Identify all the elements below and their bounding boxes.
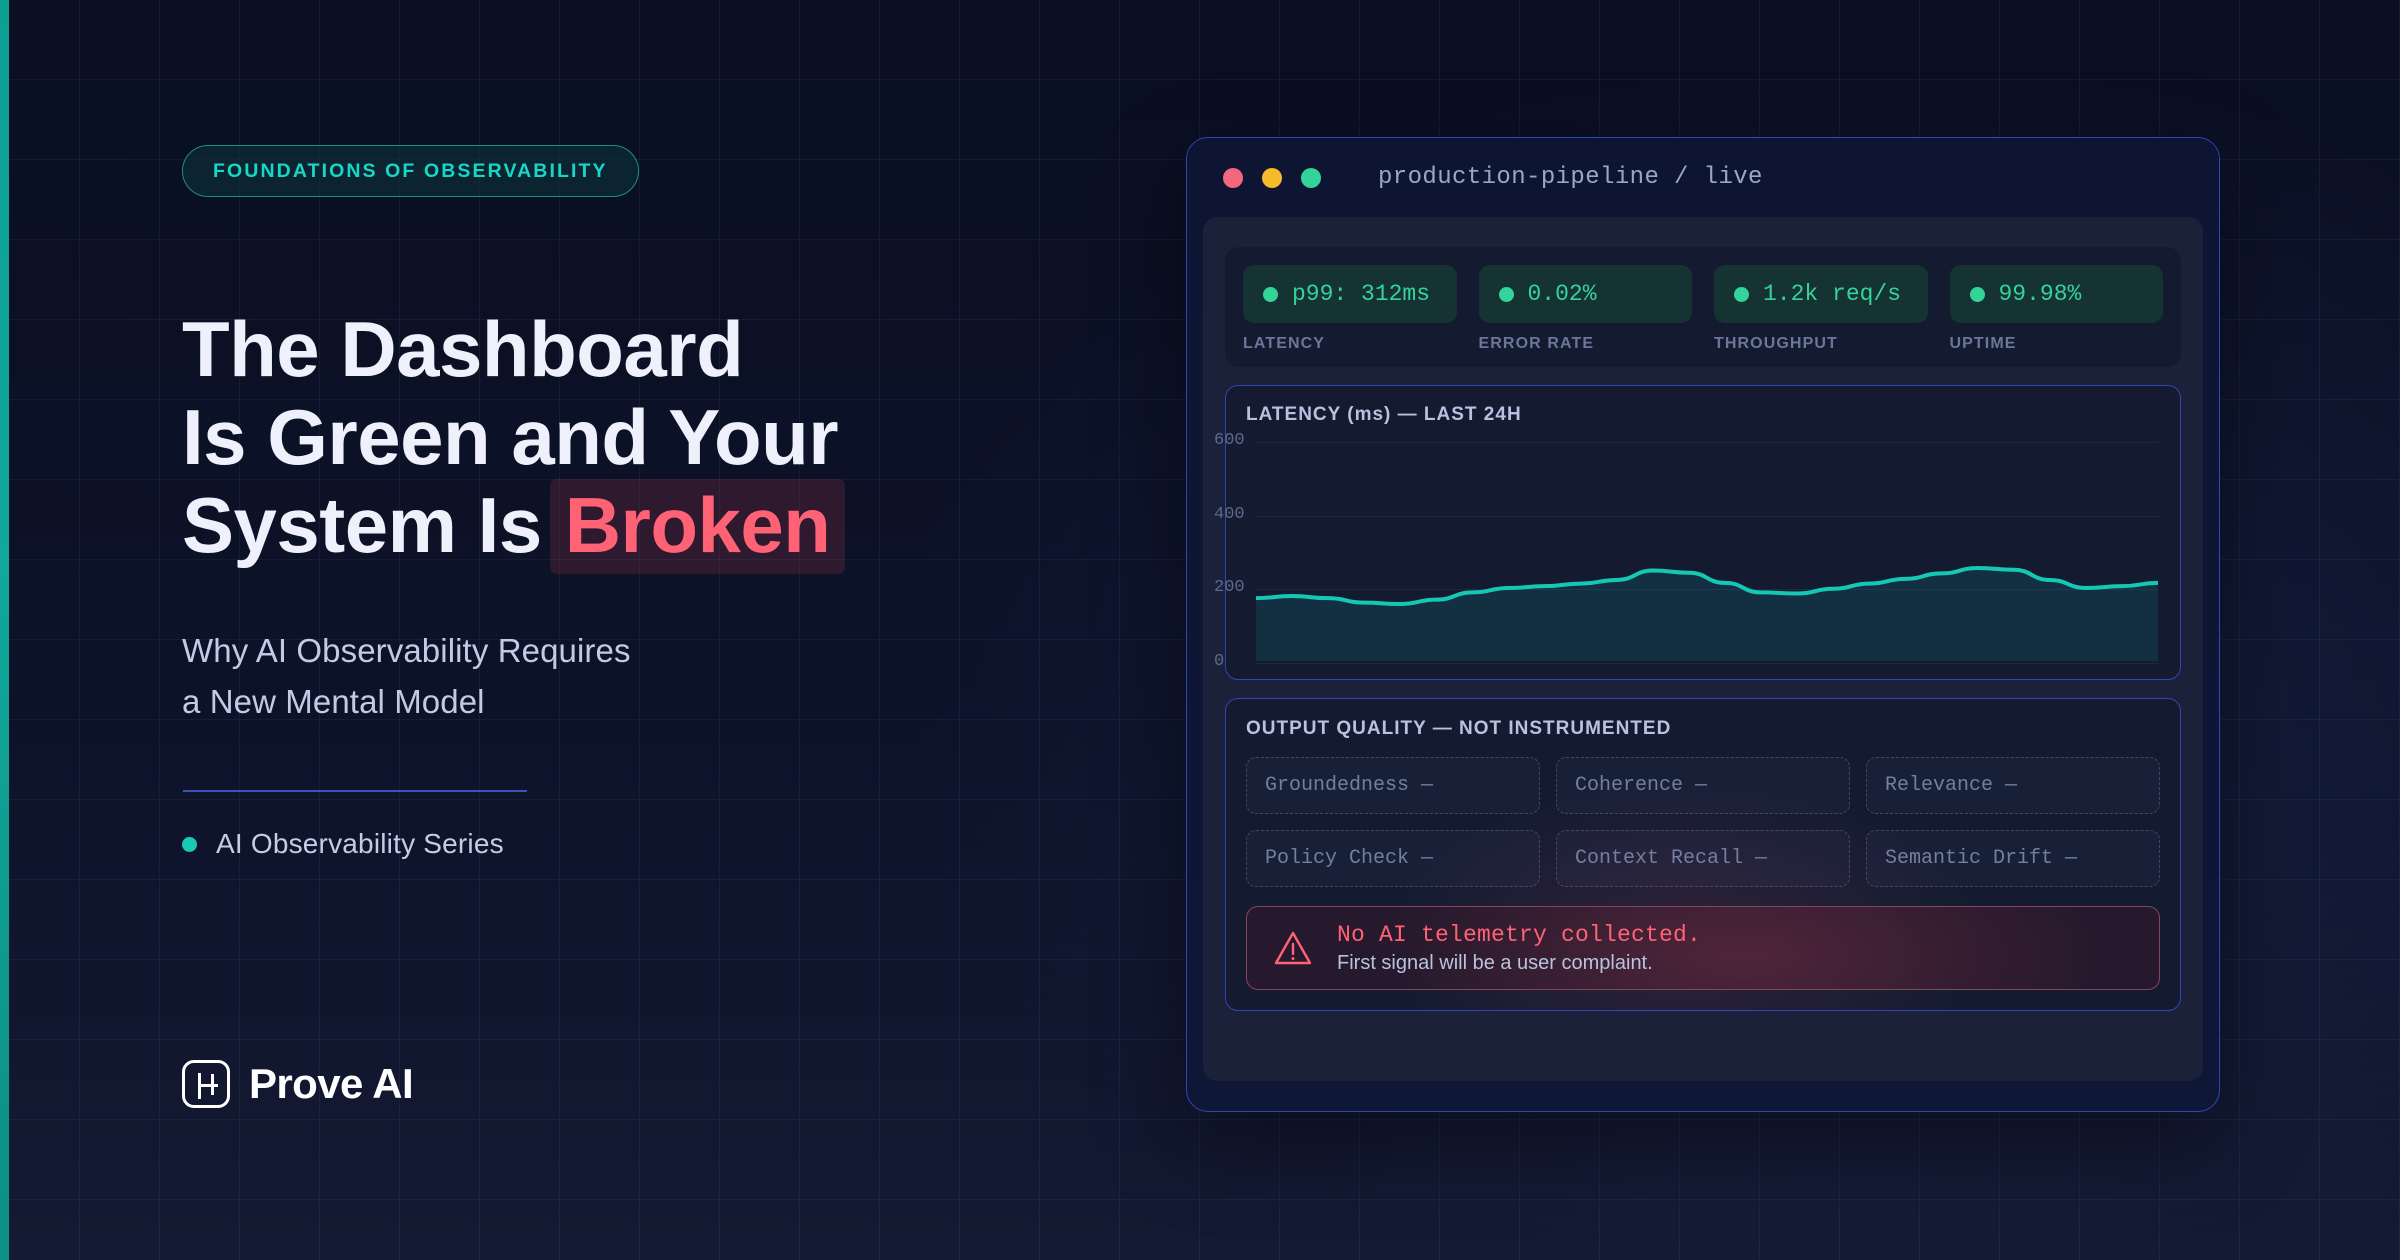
chart-y-tick-label: 400 — [1214, 505, 1245, 524]
metric-label: THROUGHPUT — [1714, 335, 1928, 353]
chart-y-tick-label: 0 — [1214, 652, 1224, 671]
latency-chart-card: LATENCY (ms) — LAST 24H 0200400600 — [1225, 385, 2181, 680]
metric-label: LATENCY — [1243, 335, 1457, 353]
quality-placeholder-card: Context Recall — — [1556, 830, 1850, 887]
metric-chip: p99: 312ms — [1243, 265, 1457, 323]
brand-logo-text: Prove AI — [249, 1060, 413, 1108]
headline-line-1: The Dashboard — [182, 305, 1002, 393]
chart-y-tick-label: 200 — [1214, 578, 1245, 597]
quality-placeholder-label: Coherence — — [1575, 774, 1707, 797]
metric-chip: 0.02% — [1479, 265, 1693, 323]
metric-latency: p99: 312msLATENCY — [1243, 265, 1457, 353]
traffic-lights — [1223, 168, 1321, 188]
metric-throughput: 1.2k req/sTHROUGHPUT — [1714, 265, 1928, 353]
no-telemetry-alert: No AI telemetry collected. First signal … — [1246, 906, 2160, 990]
quality-placeholder-label: Relevance — — [1885, 774, 2017, 797]
alert-text-block: No AI telemetry collected. First signal … — [1337, 922, 1701, 975]
eyebrow-badge: FOUNDATIONS OF OBSERVABILITY — [182, 145, 639, 197]
section-divider — [183, 790, 527, 792]
page-subtitle: Why AI Observability Requires a New Ment… — [182, 625, 882, 727]
chart-y-tick-label: 600 — [1214, 431, 1245, 450]
metric-value: p99: 312ms — [1292, 281, 1430, 307]
quality-placeholder-card: Semantic Drift — — [1866, 830, 2160, 887]
page-title: The Dashboard Is Green and Your System I… — [182, 305, 1002, 569]
status-dot-icon — [1499, 287, 1514, 302]
metric-error-rate: 0.02%ERROR RATE — [1479, 265, 1693, 353]
headline-line-2: Is Green and Your — [182, 393, 1002, 481]
alert-headline: No AI telemetry collected. — [1337, 922, 1701, 948]
output-quality-section: OUTPUT QUALITY — NOT INSTRUMENTED Ground… — [1225, 698, 2181, 1011]
quality-placeholder-label: Semantic Drift — — [1885, 847, 2077, 870]
quality-placeholder-label: Policy Check — — [1265, 847, 1433, 870]
prove-ai-mark-icon — [182, 1060, 230, 1108]
series-label-row: AI Observability Series — [182, 828, 504, 860]
slide-canvas: FOUNDATIONS OF OBSERVABILITY The Dashboa… — [0, 0, 2400, 1260]
metric-label: UPTIME — [1950, 335, 2164, 353]
quality-placeholder-label: Context Recall — — [1575, 847, 1767, 870]
left-edge-accent-bar — [0, 0, 9, 1260]
output-quality-title: OUTPUT QUALITY — NOT INSTRUMENTED — [1246, 718, 2160, 740]
metric-value: 99.98% — [1999, 281, 2082, 307]
headline-line-3: System IsBroken — [182, 481, 1002, 569]
quality-placeholder-card: Groundedness — — [1246, 757, 1540, 814]
window-titlebar: production-pipeline / live — [1187, 138, 2219, 217]
headline-highlight: Broken — [550, 479, 846, 574]
metrics-row: p99: 312msLATENCY0.02%ERROR RATE1.2k req… — [1225, 247, 2181, 367]
series-dot-icon — [182, 837, 197, 852]
latency-area-fill — [1256, 568, 2158, 661]
window-title: production-pipeline / live — [1378, 164, 1763, 191]
latency-chart-title: LATENCY (ms) — LAST 24H — [1246, 404, 2160, 426]
hero-column: FOUNDATIONS OF OBSERVABILITY The Dashboa… — [182, 0, 1082, 1260]
output-quality-grid: Groundedness —Coherence —Relevance —Poli… — [1246, 757, 2160, 887]
quality-placeholder-card: Coherence — — [1556, 757, 1850, 814]
eyebrow-badge-label: FOUNDATIONS OF OBSERVABILITY — [213, 160, 608, 183]
minimize-window-icon[interactable] — [1262, 168, 1282, 188]
metric-value: 1.2k req/s — [1763, 281, 1901, 307]
alert-subtext: First signal will be a user complaint. — [1337, 952, 1701, 975]
dashboard-window: production-pipeline / live p99: 312msLAT… — [1186, 137, 2220, 1112]
quality-placeholder-label: Groundedness — — [1265, 774, 1433, 797]
metric-label: ERROR RATE — [1479, 335, 1693, 353]
latency-chart-plot: 0200400600 — [1256, 442, 2158, 661]
chart-gridline — [1256, 663, 2158, 664]
warning-triangle-icon — [1273, 930, 1313, 966]
maximize-window-icon[interactable] — [1301, 168, 1321, 188]
subtitle-line-1: Why AI Observability Requires — [182, 625, 882, 676]
quality-placeholder-card: Policy Check — — [1246, 830, 1540, 887]
status-dot-icon — [1734, 287, 1749, 302]
window-body: p99: 312msLATENCY0.02%ERROR RATE1.2k req… — [1203, 217, 2203, 1081]
close-window-icon[interactable] — [1223, 168, 1243, 188]
latency-series-svg — [1256, 442, 2158, 661]
series-label: AI Observability Series — [216, 828, 504, 860]
metric-uptime: 99.98%UPTIME — [1950, 265, 2164, 353]
status-dot-icon — [1263, 287, 1278, 302]
headline-line-3-prefix: System Is — [182, 481, 542, 569]
status-dot-icon — [1970, 287, 1985, 302]
brand-logo: Prove AI — [182, 1060, 413, 1108]
metric-chip: 1.2k req/s — [1714, 265, 1928, 323]
subtitle-line-2: a New Mental Model — [182, 676, 882, 727]
quality-placeholder-card: Relevance — — [1866, 757, 2160, 814]
metric-value: 0.02% — [1528, 281, 1597, 307]
metric-chip: 99.98% — [1950, 265, 2164, 323]
